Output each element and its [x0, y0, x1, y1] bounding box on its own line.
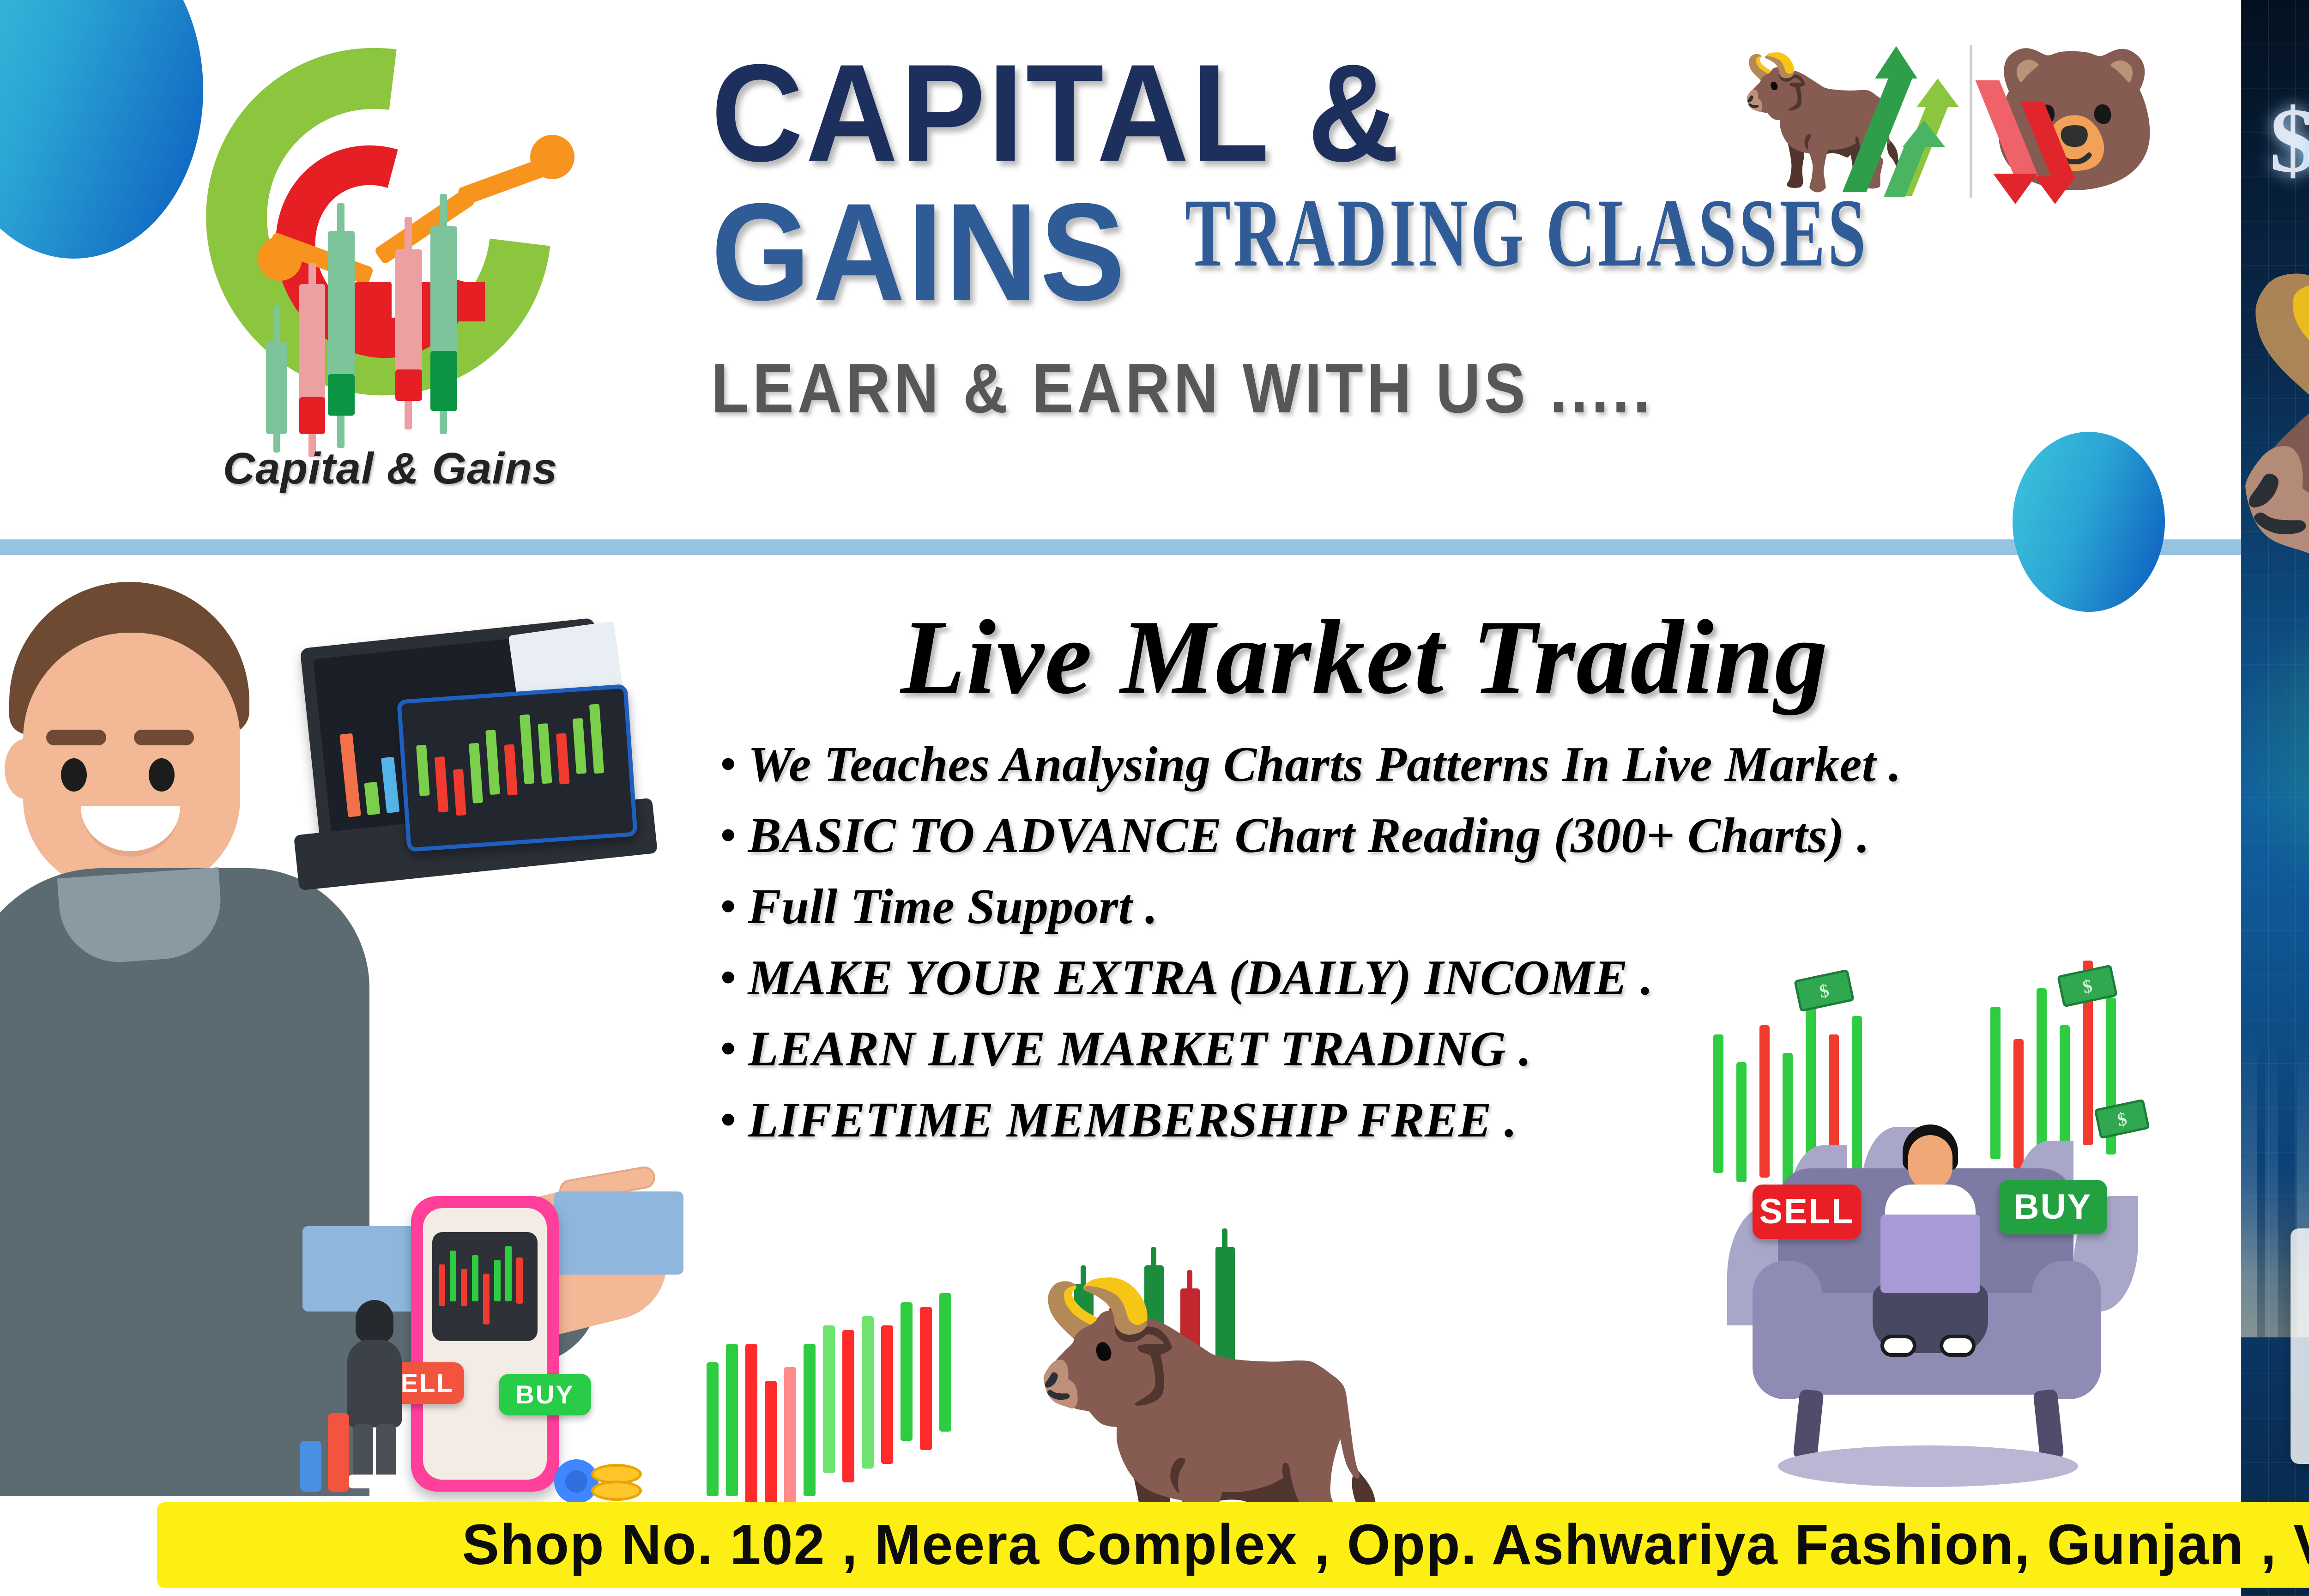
laptop-illustration [296, 633, 656, 919]
logo-trend-dot-1 [258, 236, 302, 281]
title-line-gains: GAINS [711, 189, 1128, 314]
logo-candle-1 [266, 342, 287, 434]
man-eye-right [149, 758, 175, 792]
logo-trend-dot-2 [530, 135, 574, 179]
advertisement-banner: Capital & Gains CAPITAL & GAINS TRADING … [0, 0, 2309, 1596]
businessman-body [347, 1340, 402, 1427]
sofa-sell-badge[interactable]: SELL [1753, 1185, 1861, 1239]
red-down-arrow-2 [2035, 176, 2075, 204]
hero-bull-neon-icon: 🐂 [2241, 259, 2309, 928]
man-ear [5, 739, 46, 799]
businessman-figure [342, 1300, 406, 1485]
decor-circle-center [2013, 432, 2165, 612]
sofa-person-shoe-left [1880, 1335, 1916, 1357]
bullet-text: MAKE YOUR EXTRA (DAILY) INCOME . [748, 952, 1653, 1004]
bull-bear-icon-group: 🐂 🐻 [1736, 42, 2198, 203]
laptop-chart-card [397, 684, 638, 852]
bullet-marker-icon: • [720, 1026, 736, 1070]
sofa-leg-right [2033, 1389, 2064, 1461]
bullet-marker-icon: • [720, 813, 736, 857]
phone-info-card-right [554, 1191, 683, 1275]
sofa-buy-badge[interactable]: BUY [1999, 1180, 2107, 1234]
money-note-3 [2094, 1099, 2150, 1139]
bullet-marker-icon: • [720, 955, 736, 999]
green-up-arrow-1 [1875, 46, 1917, 79]
phone-gear-icon [554, 1459, 598, 1504]
bullet-text: LIFETIME MEMBERSHIP FREE . [748, 1094, 1517, 1146]
list-item: • LEARN LIVE MARKET TRADING . [720, 1023, 2152, 1075]
phone-trading-illustration: SELL BUY [296, 1182, 674, 1533]
man-eye-left [61, 758, 87, 792]
address-bar: Shop No. 102 , Meera Complex , Opp. Ashw… [157, 1502, 2309, 1588]
logo-candle-6b [430, 351, 457, 411]
brand-logo-mark [152, 32, 623, 448]
red-down-arrow-1 [1993, 174, 2037, 204]
icon-separator [1970, 45, 1972, 198]
green-up-arrow-2 [1916, 79, 1959, 107]
brand-tagline: LEARN & EARN WITH US ..... [711, 348, 1796, 429]
bullet-marker-icon: • [720, 1097, 736, 1142]
bullet-text: LEARN LIVE MARKET TRADING . [748, 1023, 1532, 1075]
phone-bar-blue [300, 1441, 321, 1492]
sofa-shadow [1778, 1445, 2078, 1487]
phone-bar-red [328, 1413, 349, 1492]
logo-caption: Capital & Gains [152, 443, 628, 494]
bullet-marker-icon: • [720, 742, 736, 786]
list-item: • We Teaches Analysing Charts Patterns I… [720, 739, 2152, 791]
contact-email-link[interactable]: capitalandgains777@gmail.com [2299, 1412, 2309, 1457]
main-heading: Live Market Trading [901, 596, 1829, 718]
phone-coin-2 [591, 1481, 642, 1501]
list-item: • MAKE YOUR EXTRA (DAILY) INCOME . [720, 952, 2152, 1004]
phone-chart [432, 1232, 538, 1341]
sofa-leg-left [1793, 1389, 1824, 1461]
logo-candle-5b [395, 369, 422, 401]
contact-website-link[interactable]: https://capital-gains.netlify.app/ [2299, 1367, 2309, 1412]
phone-buy-badge[interactable]: BUY [499, 1374, 591, 1415]
bullet-text: We Teaches Analysing Charts Patterns In … [748, 739, 1902, 791]
sofa-person-head [1908, 1135, 1952, 1190]
green-up-arrow-3 [1903, 120, 1945, 147]
hero-dollar-2: $ [2270, 88, 2309, 193]
candlestick-chart-illustration [702, 1275, 961, 1496]
man-eyebrow-right [134, 730, 194, 745]
person-on-sofa-illustration: SELL BUY [1709, 1076, 2147, 1501]
bullet-text: BASIC TO ADVANCE Chart Reading (300+ Cha… [748, 810, 1870, 862]
logo-candle-2b [299, 397, 325, 434]
bullet-text: Full Time Support . [748, 881, 1158, 933]
logo-candle-3b [328, 374, 355, 416]
businessman-leg-right [376, 1424, 396, 1479]
title-line-capital: CAPITAL & [711, 46, 1846, 179]
address-text: Shop No. 102 , Meera Complex , Opp. Ashw… [462, 1512, 2309, 1578]
contact-card: Mr. Ajay Rohit +91 75679 79759 +91 97121… [2291, 1228, 2309, 1464]
businessman-leg-left [353, 1424, 373, 1479]
list-item: • Full Time Support . [720, 881, 2152, 933]
sofa-person-shoe-right [1940, 1335, 1976, 1357]
bullet-marker-icon: • [720, 884, 736, 928]
businessman-head [356, 1300, 393, 1342]
list-item: • BASIC TO ADVANCE Chart Reading (300+ C… [720, 810, 2152, 862]
sofa-person-laptop [1880, 1215, 1980, 1293]
businessman-shoe-right [370, 1475, 404, 1488]
man-eyebrow-left [46, 730, 106, 745]
logo-candle-4 [355, 282, 392, 351]
header-divider [0, 539, 2241, 555]
